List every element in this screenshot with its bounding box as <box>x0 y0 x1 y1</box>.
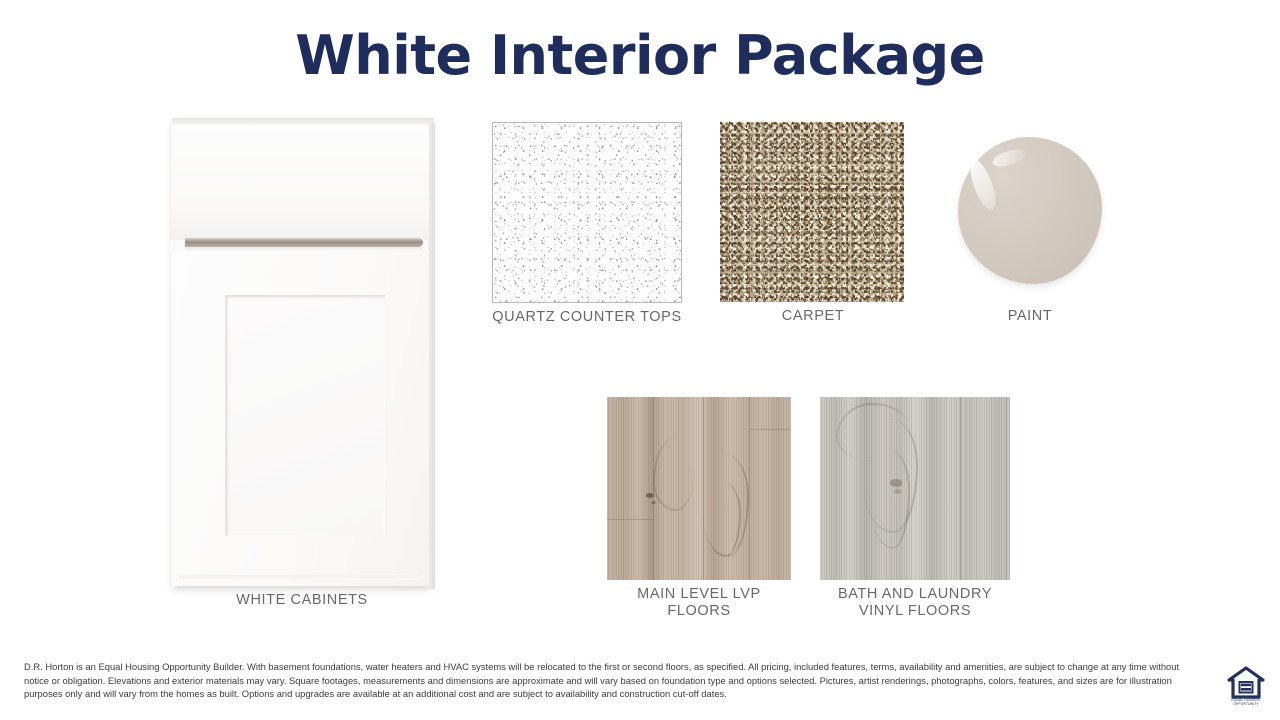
house-icon <box>1226 666 1266 700</box>
plank-seam <box>749 397 750 580</box>
plank-seam <box>1006 397 1007 580</box>
swatch-label-white-cabinets: WHITE CABINETS <box>162 592 442 609</box>
paint-blob-shape <box>958 137 1102 284</box>
wood-knot <box>646 493 654 498</box>
cabinet-right-edge <box>428 123 435 589</box>
wood-knot <box>890 479 902 487</box>
equal-housing-opportunity-logo: EQUAL HOUSING OPPORTUNITY <box>1226 666 1266 710</box>
cabinet-door-image <box>170 118 428 586</box>
plank-seam-horizontal <box>607 519 653 520</box>
cabinet-drawer-front <box>170 124 429 240</box>
wood-knot <box>894 489 901 494</box>
equal-housing-opportunity-caption: EQUAL HOUSING OPPORTUNITY <box>1226 698 1266 706</box>
swatch-label-main-level-lvp-floors: MAIN LEVEL LVP FLOORS <box>607 586 791 620</box>
cabinet-door-front <box>170 251 429 586</box>
cabinet-reveal-shadow <box>185 238 423 247</box>
swatch-paint[interactable]: PAINT <box>938 122 1122 325</box>
plank-seam-horizontal <box>749 429 791 430</box>
swatch-label-paint: PAINT <box>938 308 1122 325</box>
carpet-sample-image <box>720 122 904 302</box>
swatch-carpet[interactable]: CARPET <box>720 122 906 325</box>
swatch-main-level-lvp-floors[interactable]: MAIN LEVEL LVP FLOORS <box>607 397 791 620</box>
swatch-quartz-counter-tops[interactable]: QUARTZ COUNTER TOPS <box>492 122 682 326</box>
swatch-label-quartz-counter-tops: QUARTZ COUNTER TOPS <box>492 309 682 326</box>
vinyl-sample-image <box>820 397 1010 580</box>
swatch-white-cabinets[interactable]: WHITE CABINETS <box>162 118 442 609</box>
quartz-sample-image <box>492 122 682 303</box>
plank-seam <box>703 397 704 580</box>
swatch-bath-and-laundry-vinyl-floors[interactable]: BATH AND LAUNDRY VINYL FLOORS <box>820 397 1010 620</box>
wood-grain-swirl <box>653 439 695 511</box>
wood-grain-swirl <box>872 451 910 549</box>
plank-seam <box>960 397 961 580</box>
cabinet-bottom-edge <box>179 575 421 580</box>
swatch-label-bath-and-laundry-vinyl-floors: BATH AND LAUNDRY VINYL FLOORS <box>820 586 1010 620</box>
legal-disclaimer: D.R. Horton is an Equal Housing Opportun… <box>24 660 1200 701</box>
wood-knot <box>651 501 656 504</box>
page-title: White Interior Package <box>0 24 1280 87</box>
swatch-label-carpet: CARPET <box>720 308 906 325</box>
lvp-sample-image <box>607 397 791 580</box>
cabinet-recessed-panel <box>225 295 385 536</box>
paint-gloss-highlight-secondary <box>991 146 1028 170</box>
paint-sample-image <box>938 122 1122 302</box>
